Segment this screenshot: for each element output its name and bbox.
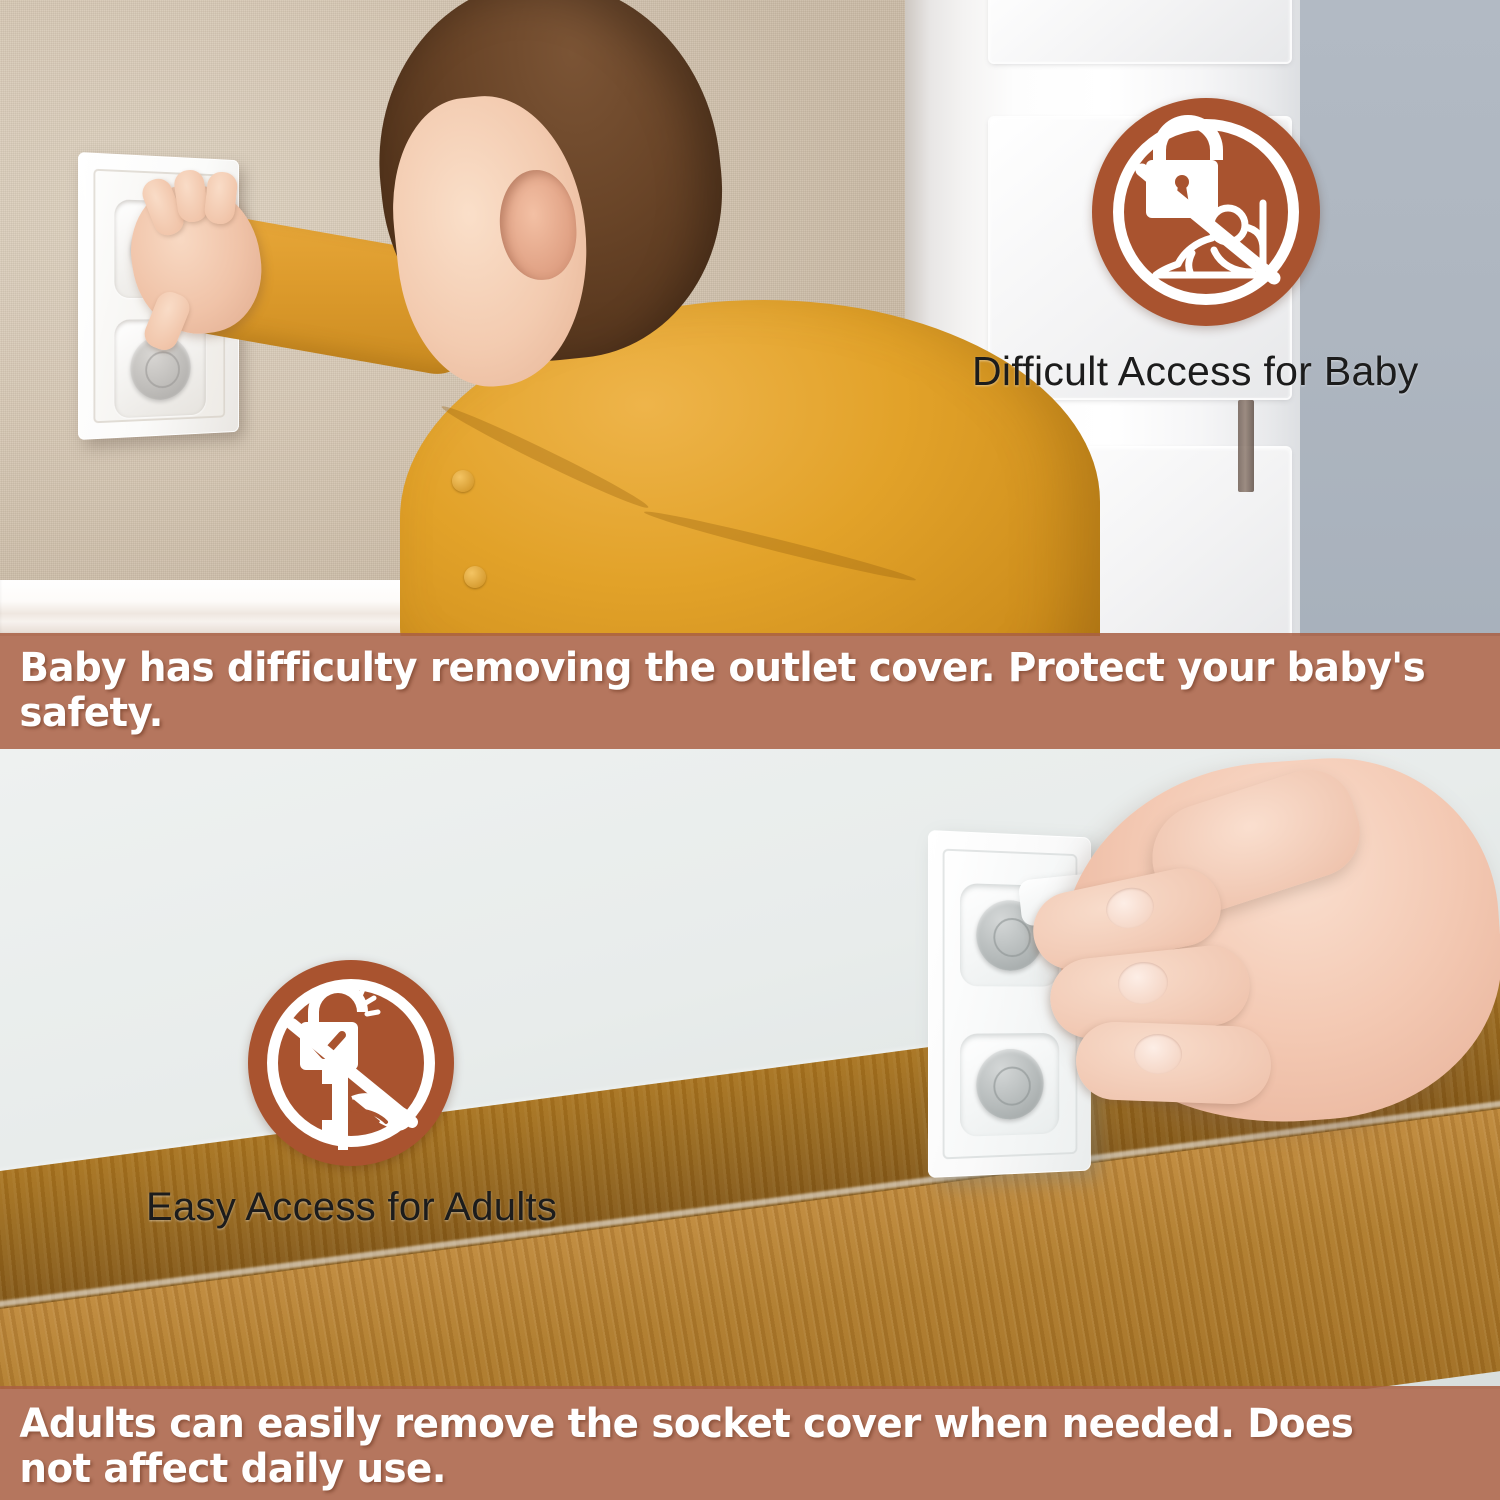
- difficult-access-badge: [1092, 98, 1320, 326]
- bottom-banner-text: Adults can easily remove the socket cove…: [0, 1386, 1455, 1492]
- grey-blue-wall: [1300, 0, 1500, 636]
- shirt-button: [452, 470, 474, 492]
- top-scene-photo: Difficult Access for Baby: [0, 0, 1500, 636]
- door-panel-top: [990, 0, 1290, 62]
- easy-access-caption: Easy Access for Adults: [146, 1185, 557, 1230]
- top-banner-text: Baby has difficulty removing the outlet …: [0, 646, 1455, 736]
- top-banner: Baby has difficulty removing the outlet …: [0, 633, 1500, 749]
- socket-cover-lower: [960, 1033, 1059, 1137]
- bottom-banner: Adults can easily remove the socket cove…: [0, 1386, 1500, 1500]
- difficult-access-caption: Difficult Access for Baby: [972, 348, 1419, 395]
- badge-pictogram: [1092, 98, 1320, 326]
- door-hinge: [1238, 400, 1254, 492]
- badge-pictogram: [248, 960, 454, 1166]
- easy-access-badge: [248, 960, 454, 1166]
- shirt-button: [464, 566, 486, 588]
- socket-cover-disc: [976, 1049, 1043, 1121]
- product-feature-image: Difficult Access for Baby Baby has diffi…: [0, 0, 1500, 1500]
